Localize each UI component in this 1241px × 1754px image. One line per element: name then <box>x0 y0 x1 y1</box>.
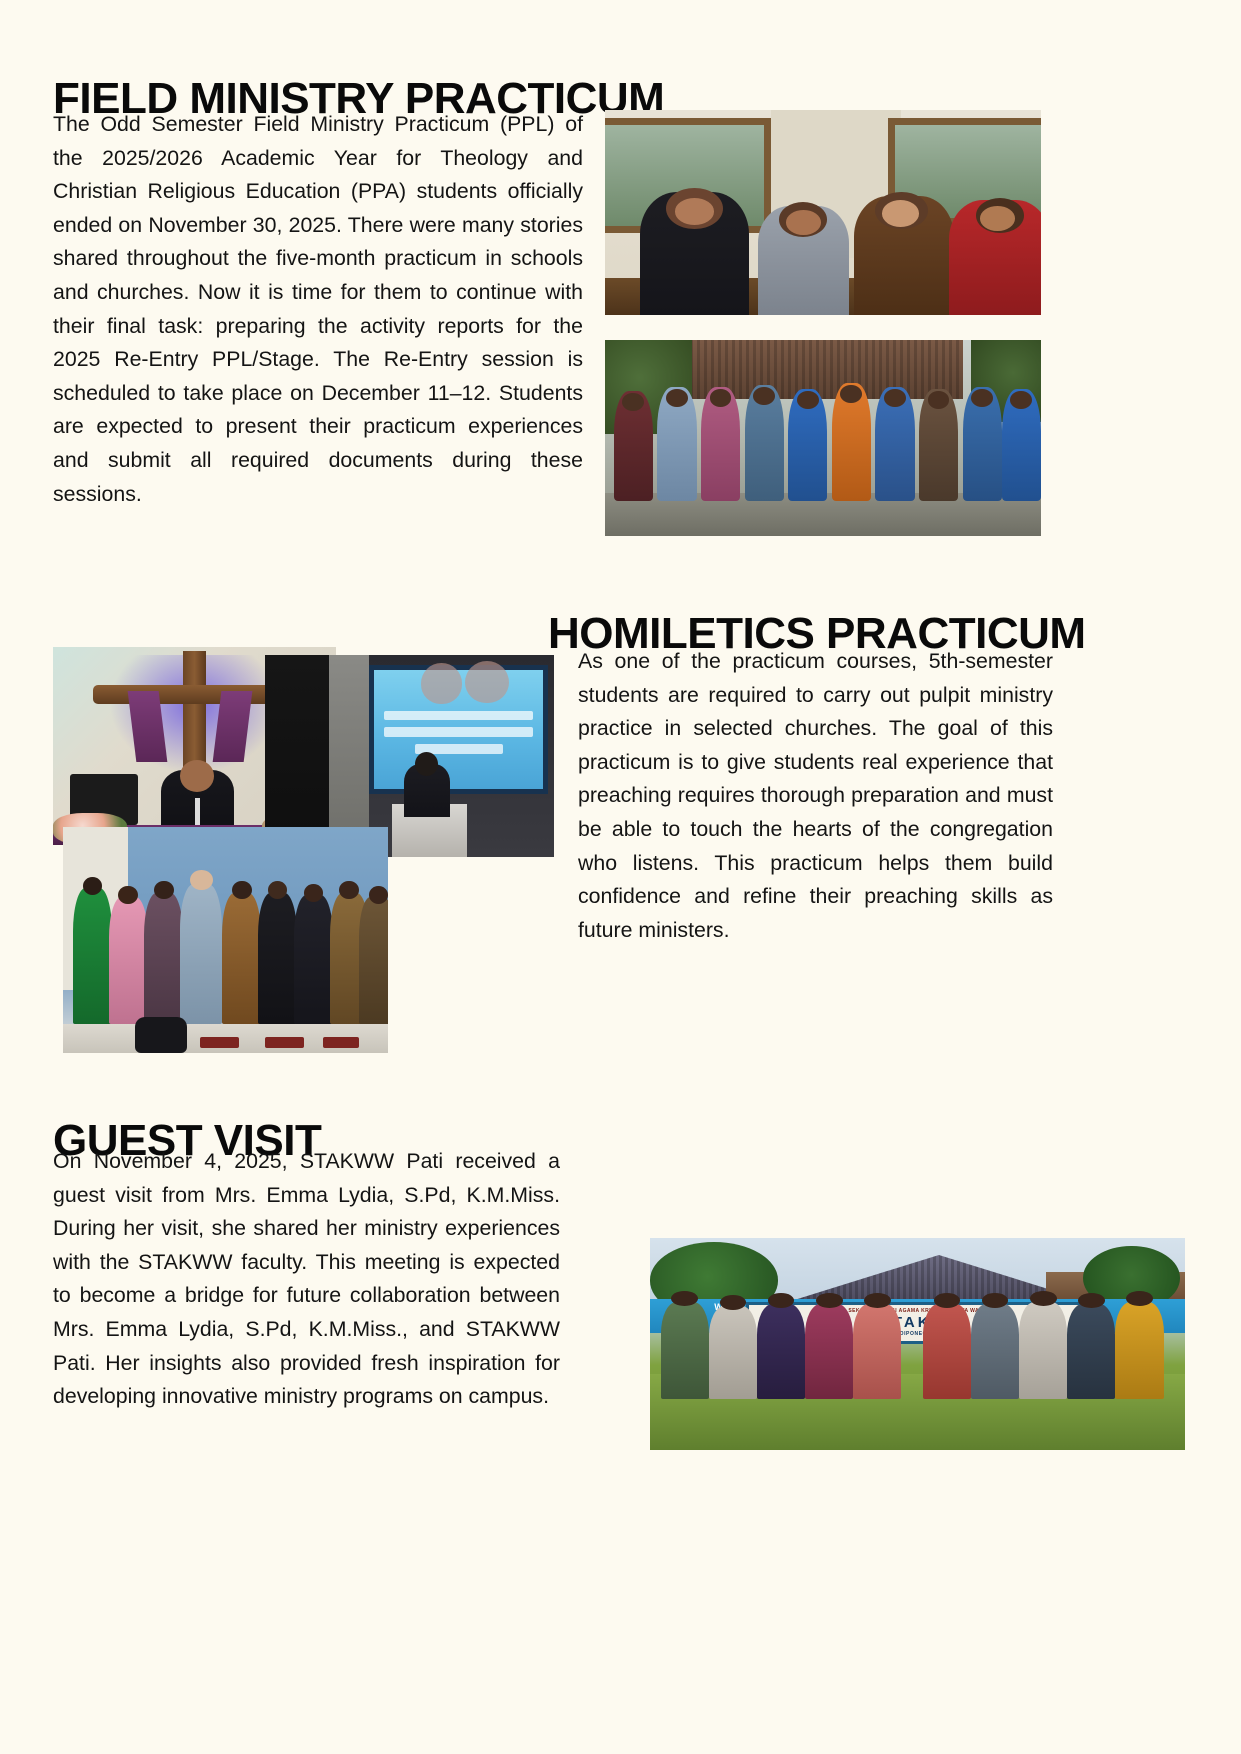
person-figure <box>971 1304 1019 1399</box>
person-head <box>154 881 174 899</box>
person-figure <box>661 1302 709 1400</box>
person-figure <box>222 893 261 1024</box>
person-figure <box>1019 1302 1067 1400</box>
section-body-homiletics-practicum: As one of the practicum courses, 5th-sem… <box>578 645 1053 947</box>
person-head <box>710 389 732 407</box>
person-figure <box>805 1304 853 1399</box>
person-head <box>369 886 389 904</box>
person-head <box>622 393 644 411</box>
person-face <box>675 198 714 225</box>
person-head <box>190 870 213 890</box>
person-head <box>339 881 359 899</box>
photo-faculty-meeting <box>605 110 1041 315</box>
backpack-shape <box>135 1017 187 1053</box>
person-head <box>1010 391 1032 409</box>
person-figure <box>180 884 222 1024</box>
section-body-field-ministry-practicum: The Odd Semester Field Ministry Practicu… <box>53 108 583 511</box>
slide-text-line <box>384 711 533 721</box>
book-shape <box>265 1037 304 1048</box>
person-head <box>1078 1293 1105 1308</box>
person-head <box>884 389 906 407</box>
section-body-guest-visit: On November 4, 2025, STAKWW Pati receive… <box>53 1145 560 1414</box>
person-figure <box>109 897 148 1024</box>
slide-text-line <box>384 727 533 737</box>
person-figure <box>853 1304 901 1399</box>
heart-graphic <box>465 661 509 704</box>
person-head <box>982 1293 1009 1308</box>
preacher-head <box>180 760 214 792</box>
person-figure <box>294 895 333 1024</box>
person-head <box>816 1293 843 1308</box>
photo-campus-signboard-group: WIJAYA WATJANA SEKOLAH TINGGI AGAMA KRIS… <box>650 1238 1185 1450</box>
person-figure <box>757 1304 805 1399</box>
heart-graphic <box>421 663 462 704</box>
cross-vertical-shape <box>183 651 206 774</box>
projector-screen <box>369 665 548 794</box>
person-figure <box>1067 1304 1115 1399</box>
person-head <box>864 1293 891 1308</box>
person-figure <box>1115 1302 1163 1400</box>
person-head <box>83 877 103 895</box>
person-head <box>671 1291 698 1306</box>
person-head <box>304 884 324 902</box>
person-head <box>971 389 993 407</box>
person-head <box>666 389 688 407</box>
photo-congregation-group <box>63 827 388 1053</box>
person-head <box>797 391 819 409</box>
person-figure <box>73 888 112 1024</box>
person-head <box>1126 1291 1153 1306</box>
person-face <box>980 206 1015 231</box>
photo-student-group-outdoor <box>605 340 1041 536</box>
person-head <box>118 886 138 904</box>
person-face <box>786 210 821 235</box>
person-head <box>934 1293 961 1308</box>
book-shape <box>200 1037 239 1048</box>
newsletter-page: FIELD MINISTRY PRACTICUM The Odd Semeste… <box>0 0 1241 1754</box>
person-head <box>768 1293 795 1308</box>
person-head <box>753 387 775 405</box>
person-figure <box>258 893 297 1024</box>
person-head <box>928 391 950 409</box>
person-head <box>1030 1291 1057 1306</box>
person-figure <box>144 893 183 1024</box>
person-head <box>840 385 862 403</box>
person-figure <box>923 1304 971 1399</box>
book-shape <box>323 1037 359 1048</box>
person-figure <box>359 897 388 1024</box>
person-face <box>882 200 919 227</box>
person-figure <box>709 1306 757 1399</box>
person-head <box>232 881 252 899</box>
